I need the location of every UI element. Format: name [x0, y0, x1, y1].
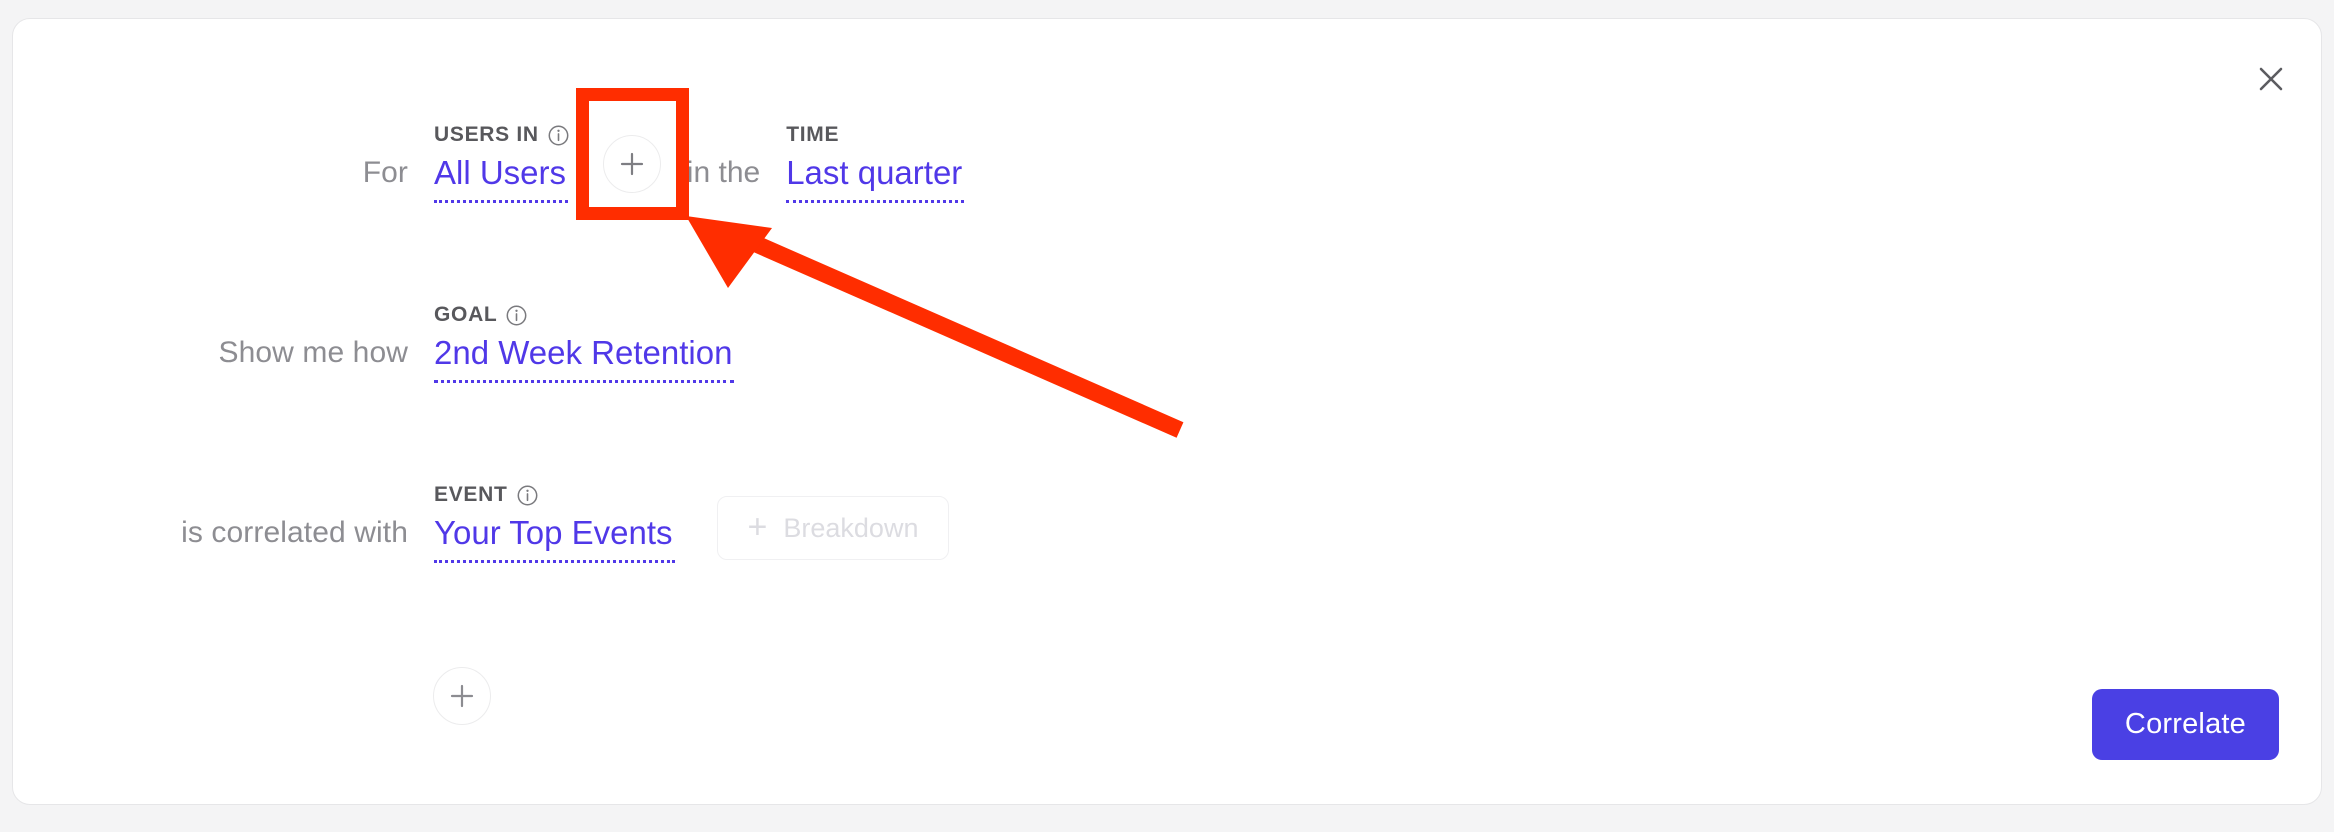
phrase-for-wrap: For	[13, 111, 408, 203]
field-label-goal: GOAL	[434, 303, 734, 327]
builder-row-event: is correlated with EVENT Your	[13, 471, 949, 563]
add-breakdown-label: Breakdown	[783, 513, 918, 544]
field-label-event: EVENT	[434, 483, 675, 507]
info-icon[interactable]	[517, 485, 538, 506]
phrase-show-me-how: Show me how	[13, 336, 408, 370]
plus-icon-breakdown: +	[748, 510, 768, 544]
screen-root: For USERS IN All Users	[0, 0, 2334, 832]
correlate-button[interactable]: Correlate	[2092, 689, 2279, 760]
info-icon[interactable]	[548, 125, 569, 146]
field-users-in: USERS IN All Users	[434, 111, 569, 203]
field-value-goal[interactable]: 2nd Week Retention	[434, 333, 734, 383]
phrase-is-correlated-with: is correlated with	[13, 516, 408, 550]
info-icon[interactable]	[506, 305, 527, 326]
phrase-is-correlated-with-wrap: is correlated with	[13, 471, 408, 563]
add-breakdown-button[interactable]: + Breakdown	[717, 496, 950, 560]
phrase-show-me-how-wrap: Show me how	[13, 291, 408, 383]
field-time: TIME Last quarter	[786, 111, 964, 203]
field-value-event[interactable]: Your Top Events	[434, 513, 675, 563]
field-label-text-goal: GOAL	[434, 303, 497, 327]
field-label-text-event: EVENT	[434, 483, 508, 507]
field-value-users-in[interactable]: All Users	[434, 153, 568, 203]
close-icon[interactable]	[2249, 57, 2293, 101]
correlation-builder-card: For USERS IN All Users	[12, 18, 2322, 805]
field-label-text-time: TIME	[786, 123, 839, 147]
field-label-users-in: USERS IN	[434, 123, 569, 147]
field-value-time[interactable]: Last quarter	[786, 153, 964, 203]
add-user-filter-slot	[603, 135, 661, 193]
plus-icon-add-filter[interactable]	[603, 135, 661, 193]
phrase-for: For	[13, 156, 408, 190]
plus-icon-add-row[interactable]	[433, 667, 491, 725]
field-goal: GOAL 2nd Week Retention	[434, 291, 734, 383]
field-label-text-users-in: USERS IN	[434, 123, 539, 147]
field-label-time: TIME	[786, 123, 964, 147]
builder-row-users: For USERS IN All Users	[13, 111, 964, 203]
inline-text-in-the: in the	[687, 156, 760, 190]
field-event: EVENT Your Top Events	[434, 471, 675, 563]
builder-row-goal: Show me how GOAL 2nd Week Rete	[13, 291, 734, 383]
